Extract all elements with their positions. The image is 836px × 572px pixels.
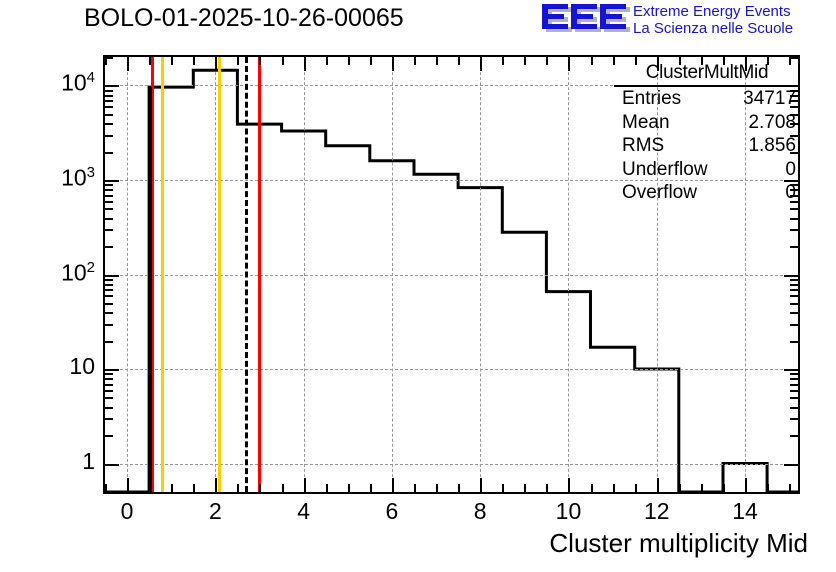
stats-value: 1.856 [748, 134, 796, 158]
x-tick [591, 484, 593, 492]
x-tick [657, 478, 659, 492]
eee-logo-line1: Extreme Energy Events [633, 3, 793, 20]
y-tick [105, 218, 113, 220]
x-tick [635, 484, 637, 492]
x-tick [745, 478, 747, 492]
x-tick [127, 478, 129, 492]
x-tick-label: 14 [732, 498, 758, 525]
x-tick [414, 484, 416, 492]
y-tick [105, 152, 113, 154]
y-tick-right [790, 384, 798, 386]
y-tick-right [784, 464, 798, 466]
x-tick-top [149, 57, 151, 65]
stats-row: Underflow0 [614, 158, 800, 182]
y-tick-right [790, 324, 798, 326]
x-tick [105, 484, 107, 492]
y-tick [105, 106, 113, 108]
x-tick-label: 2 [209, 498, 222, 525]
x-tick-top [546, 57, 548, 65]
gridline-horizontal [105, 275, 798, 276]
gridline-vertical [480, 57, 481, 492]
x-tick [701, 484, 703, 492]
x-tick-top [524, 57, 526, 65]
y-tick-right [790, 397, 798, 399]
y-tick [105, 312, 113, 314]
x-tick [149, 484, 151, 492]
stats-key: RMS [622, 134, 664, 158]
y-tick-right [790, 435, 798, 437]
x-tick-top [458, 57, 460, 65]
y-tick [105, 464, 119, 466]
x-tick [502, 484, 504, 492]
x-tick-top [237, 57, 239, 65]
y-tick [105, 418, 113, 420]
x-tick-top [436, 57, 438, 65]
x-tick-top [480, 57, 482, 71]
stats-value: 34717 [743, 87, 796, 111]
eee-logo-mark [541, 3, 631, 37]
stats-rows: Entries34717Mean2.708RMS1.856Underflow0O… [614, 87, 800, 205]
y-tick [105, 95, 113, 97]
y-tick [105, 229, 113, 231]
y-tick-label: 102 [15, 259, 95, 287]
y-tick-right [790, 57, 798, 59]
y-tick [105, 378, 113, 380]
y-tick [105, 114, 113, 116]
y-tick [105, 246, 113, 248]
x-tick-top [591, 57, 593, 65]
stats-row: Mean2.708 [614, 111, 800, 135]
y-tick-right [790, 295, 798, 297]
x-tick-top [370, 57, 372, 65]
stats-value: 0 [785, 181, 796, 205]
x-tick-label: 12 [644, 498, 670, 525]
gridline-horizontal [105, 369, 798, 370]
x-tick-top [259, 57, 261, 65]
x-tick [304, 478, 306, 492]
stats-value: 2.708 [748, 111, 796, 135]
gridline-vertical [127, 57, 128, 492]
y-tick-right [790, 341, 798, 343]
y-tick [105, 85, 119, 87]
x-tick-top [326, 57, 328, 65]
y-tick-right [784, 275, 798, 277]
x-tick-label: 10 [556, 498, 582, 525]
stats-box: ClusterMultMid Entries34717Mean2.708RMS1… [614, 62, 800, 207]
x-tick-top [392, 57, 394, 71]
x-tick [524, 484, 526, 492]
x-tick [370, 484, 372, 492]
y-tick-right [790, 418, 798, 420]
y-tick [105, 123, 113, 125]
y-tick [105, 275, 119, 277]
y-tick [105, 189, 113, 191]
stats-title: ClusterMultMid [614, 62, 800, 87]
eee-logo-line2: La Scienza nelle Scuole [633, 20, 793, 37]
x-tick-top [127, 57, 129, 71]
x-tick [237, 484, 239, 492]
x-tick [458, 484, 460, 492]
y-tick [105, 90, 113, 92]
x-tick-top [282, 57, 284, 65]
y-tick [105, 341, 113, 343]
y-tick [105, 279, 113, 281]
stats-key: Mean [622, 111, 670, 135]
x-tick-label: 6 [386, 498, 399, 525]
x-tick [679, 484, 681, 492]
x-tick-top [171, 57, 173, 65]
stats-row: Overflow0 [614, 181, 800, 205]
x-tick [613, 484, 615, 492]
x-tick [348, 484, 350, 492]
gridline-vertical [568, 57, 569, 492]
x-tick [568, 478, 570, 492]
y-tick-right [790, 279, 798, 281]
y-tick [105, 195, 113, 197]
y-tick [105, 295, 113, 297]
y-tick-right [790, 289, 798, 291]
x-tick-label: 0 [121, 498, 134, 525]
x-tick [171, 484, 173, 492]
x-tick-top [348, 57, 350, 65]
gridline-horizontal [105, 464, 798, 465]
x-tick-top [414, 57, 416, 65]
stats-row: Entries34717 [614, 87, 800, 111]
y-tick-right [790, 407, 798, 409]
y-tick [105, 180, 119, 182]
y-tick [105, 57, 113, 59]
x-tick-top [502, 57, 504, 65]
y-tick-label: 10 [15, 353, 95, 380]
x-axis-title: Cluster multiplicity Mid [549, 528, 808, 559]
root-canvas: BOLO-01-2025-10-26-00065 [0, 0, 836, 572]
y-tick-right [790, 218, 798, 220]
y-tick-right [790, 208, 798, 210]
x-tick [480, 478, 482, 492]
page-title: BOLO-01-2025-10-26-00065 [84, 4, 404, 33]
x-tick [789, 484, 791, 492]
y-tick [105, 407, 113, 409]
y-tick-right [790, 229, 798, 231]
x-tick-top [215, 57, 217, 71]
gridline-vertical [392, 57, 393, 492]
histogram-left-edge [149, 87, 152, 492]
stats-key: Entries [622, 87, 681, 111]
x-tick [259, 484, 261, 492]
y-tick [105, 289, 113, 291]
y-tick [105, 369, 119, 371]
y-tick [105, 303, 113, 305]
x-tick [546, 484, 548, 492]
y-tick [105, 390, 113, 392]
marker-orange-line-high [218, 57, 221, 492]
x-tick-label: 8 [474, 498, 487, 525]
y-tick [105, 135, 113, 137]
stats-key: Underflow [622, 158, 708, 182]
marker-dashed-mean-line [245, 57, 248, 492]
y-tick-label: 103 [15, 164, 95, 192]
marker-red-line-high [258, 57, 261, 492]
x-tick-label: 4 [297, 498, 310, 525]
y-tick-right [790, 390, 798, 392]
y-tick-label: 104 [15, 69, 95, 97]
y-tick [105, 435, 113, 437]
y-tick [105, 324, 113, 326]
x-tick [392, 478, 394, 492]
y-tick [105, 397, 113, 399]
y-tick-right [790, 284, 798, 286]
stats-key: Overflow [622, 181, 697, 205]
x-tick [436, 484, 438, 492]
marker-orange-line-low [161, 57, 164, 492]
x-tick-top [568, 57, 570, 71]
eee-logo-text: Extreme Energy Events La Scienza nelle S… [633, 3, 793, 37]
x-tick [326, 484, 328, 492]
stats-value: 0 [785, 158, 796, 182]
y-tick [105, 208, 113, 210]
y-tick [105, 373, 113, 375]
x-tick [767, 484, 769, 492]
y-tick [105, 384, 113, 386]
y-tick-right [790, 373, 798, 375]
gridline-vertical [304, 57, 305, 492]
y-tick-label: 1 [15, 448, 95, 475]
x-tick [282, 484, 284, 492]
x-tick [215, 478, 217, 492]
stats-row: RMS1.856 [614, 134, 800, 158]
y-tick [105, 100, 113, 102]
eee-logo: Extreme Energy Events La Scienza nelle S… [541, 2, 836, 42]
y-tick-right [790, 303, 798, 305]
y-tick [105, 284, 113, 286]
y-tick-right [790, 312, 798, 314]
x-tick-top [193, 57, 195, 65]
x-tick [723, 484, 725, 492]
y-tick-right [784, 369, 798, 371]
y-tick [105, 201, 113, 203]
y-tick-right [790, 246, 798, 248]
y-tick [105, 184, 113, 186]
x-tick [193, 484, 195, 492]
x-tick-top [304, 57, 306, 71]
gridline-vertical [215, 57, 216, 492]
y-tick-right [790, 378, 798, 380]
